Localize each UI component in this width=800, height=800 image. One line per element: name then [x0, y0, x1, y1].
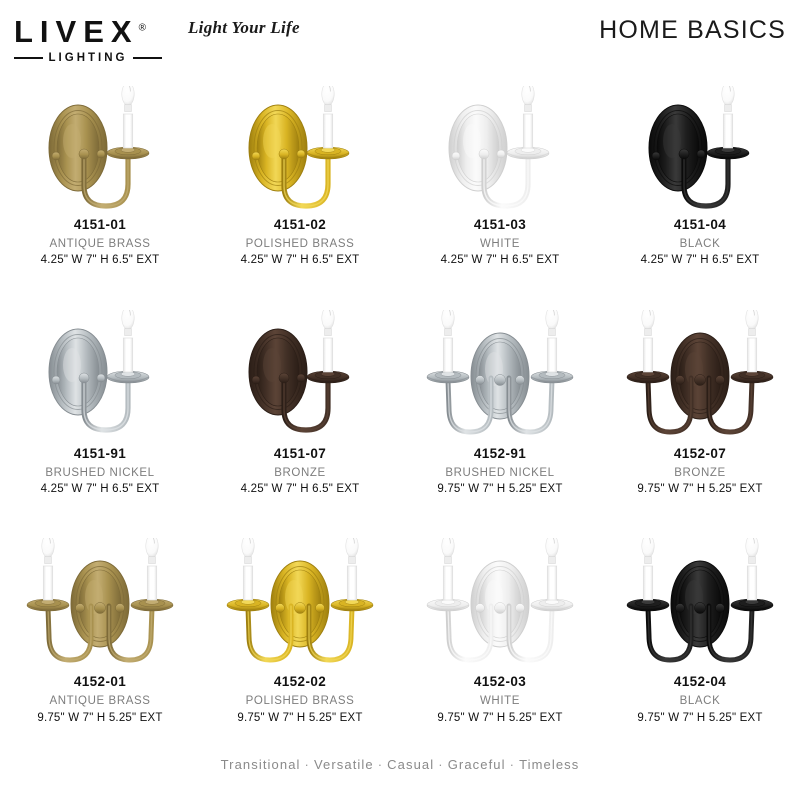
backplate [49, 105, 107, 191]
product-image [600, 86, 800, 211]
product-dimensions: 9.75" W 7" H 5.25" EXT [400, 711, 600, 725]
product-card[interactable]: 4151-03WHITE4.25" W 7" H 6.5" EXT [400, 86, 600, 268]
sconce-illustration [600, 86, 800, 211]
candle-bulb [346, 538, 358, 600]
product-sku: 4152-07 [600, 446, 800, 463]
candle-bulb [546, 310, 558, 372]
registered-trademark-icon: ® [139, 23, 146, 34]
product-image [200, 86, 400, 211]
bobeche [731, 599, 773, 611]
bobeche [427, 599, 469, 611]
footer-keywords: Transitional·Versatile·Casual·Graceful·T… [0, 757, 800, 772]
candle-bulb [442, 538, 454, 600]
sconce-illustration [600, 538, 800, 668]
product-finish: ANTIQUE BRASS [0, 694, 200, 708]
product-card[interactable]: 4152-91BRUSHED NICKEL9.75" W 7" H 5.25" … [400, 310, 600, 497]
product-meta: 4151-01ANTIQUE BRASS4.25" W 7" H 6.5" EX… [0, 217, 200, 268]
product-sku: 4151-04 [600, 217, 800, 234]
product-dimensions: 4.25" W 7" H 6.5" EXT [600, 253, 800, 267]
page-header: LIVEX® LIGHTING Light Your Life HOME BAS… [0, 0, 800, 78]
footer-separator: · [506, 757, 519, 772]
sconce-illustration [200, 86, 400, 211]
sconce-illustration [400, 310, 600, 440]
product-meta: 4152-07BRONZE9.75" W 7" H 5.25" EXT [600, 446, 800, 497]
product-meta: 4151-91BRUSHED NICKEL4.25" W 7" H 6.5" E… [0, 446, 200, 497]
backplate [249, 105, 307, 191]
product-sku: 4151-91 [0, 446, 200, 463]
bobeche [731, 371, 773, 383]
livex-logo: LIVEX® LIGHTING [14, 16, 174, 64]
product-row: 4152-01ANTIQUE BRASS9.75" W 7" H 5.25" E… [0, 496, 800, 725]
product-dimensions: 9.75" W 7" H 5.25" EXT [600, 711, 800, 725]
product-finish: BLACK [600, 237, 800, 251]
candle-bulb [746, 538, 758, 600]
candle-bulb [546, 538, 558, 600]
product-card[interactable]: 4151-07BRONZE4.25" W 7" H 6.5" EXT [200, 310, 400, 497]
product-meta: 4151-07BRONZE4.25" W 7" H 6.5" EXT [200, 446, 400, 497]
product-dimensions: 9.75" W 7" H 5.25" EXT [0, 711, 200, 725]
product-image [0, 310, 200, 440]
backplate [49, 329, 107, 415]
product-image [600, 310, 800, 440]
product-row: 4151-91BRUSHED NICKEL4.25" W 7" H 6.5" E… [0, 268, 800, 497]
product-image [0, 86, 200, 211]
product-card[interactable]: 4152-03WHITE9.75" W 7" H 5.25" EXT [400, 538, 600, 725]
product-image [600, 538, 800, 668]
bobeche [331, 599, 373, 611]
product-grid: 4151-01ANTIQUE BRASS4.25" W 7" H 6.5" EX… [0, 78, 800, 725]
footer-separator: · [434, 757, 447, 772]
backplate [649, 105, 707, 191]
footer-keyword: Casual [387, 757, 434, 772]
product-meta: 4151-04BLACK4.25" W 7" H 6.5" EXT [600, 217, 800, 268]
product-card[interactable]: 4152-04BLACK9.75" W 7" H 5.25" EXT [600, 538, 800, 725]
bobeche [427, 371, 469, 383]
logo-wordmark-text: LIVEX [14, 14, 139, 49]
sconce-illustration [200, 538, 400, 668]
product-dimensions: 9.75" W 7" H 5.25" EXT [400, 482, 600, 496]
bobeche [107, 147, 149, 159]
sconce-illustration [400, 538, 600, 668]
product-image [0, 538, 200, 668]
product-meta: 4152-04BLACK9.75" W 7" H 5.25" EXT [600, 674, 800, 725]
logo-subtitle: LIGHTING [49, 52, 128, 64]
bobeche [707, 147, 749, 159]
product-meta: 4152-03WHITE9.75" W 7" H 5.25" EXT [400, 674, 600, 725]
backplate [249, 329, 307, 415]
product-finish: BRONZE [600, 466, 800, 480]
candle-bulb [322, 86, 334, 148]
footer-keyword: Transitional [221, 757, 301, 772]
product-meta: 4152-91BRUSHED NICKEL9.75" W 7" H 5.25" … [400, 446, 600, 497]
product-dimensions: 4.25" W 7" H 6.5" EXT [0, 253, 200, 267]
bobeche [307, 147, 349, 159]
product-sku: 4152-01 [0, 674, 200, 691]
footer-keyword: Versatile [314, 757, 374, 772]
product-meta: 4152-02POLISHED BRASS9.75" W 7" H 5.25" … [200, 674, 400, 725]
product-card[interactable]: 4152-02POLISHED BRASS9.75" W 7" H 5.25" … [200, 538, 400, 725]
bobeche [627, 371, 669, 383]
candle-bulb [322, 310, 334, 372]
sconce-illustration [200, 310, 400, 435]
footer-keyword: Timeless [519, 757, 579, 772]
candle-bulb [746, 310, 758, 372]
product-card[interactable]: 4151-91BRUSHED NICKEL4.25" W 7" H 6.5" E… [0, 310, 200, 497]
product-dimensions: 9.75" W 7" H 5.25" EXT [600, 482, 800, 496]
product-card[interactable]: 4152-07BRONZE9.75" W 7" H 5.25" EXT [600, 310, 800, 497]
product-image [400, 538, 600, 668]
product-sku: 4152-02 [200, 674, 400, 691]
bobeche [131, 599, 173, 611]
product-finish: BRONZE [200, 466, 400, 480]
sconce-illustration [400, 86, 600, 211]
candle-bulb [122, 310, 134, 372]
candle-bulb [442, 310, 454, 372]
product-sku: 4152-03 [400, 674, 600, 691]
candle-bulb [146, 538, 158, 600]
product-dimensions: 4.25" W 7" H 6.5" EXT [400, 253, 600, 267]
product-sku: 4152-04 [600, 674, 800, 691]
product-sku: 4151-07 [200, 446, 400, 463]
product-card[interactable]: 4151-04BLACK4.25" W 7" H 6.5" EXT [600, 86, 800, 268]
product-meta: 4151-03WHITE4.25" W 7" H 6.5" EXT [400, 217, 600, 268]
product-finish: BRUSHED NICKEL [0, 466, 200, 480]
bobeche [627, 599, 669, 611]
bobeche [531, 599, 573, 611]
sconce-illustration [0, 310, 200, 435]
product-image [400, 310, 600, 440]
tagline: Light Your Life [188, 18, 300, 38]
logo-rule-right [133, 57, 162, 59]
product-finish: BLACK [600, 694, 800, 708]
logo-subtitle-row: LIGHTING [14, 52, 162, 64]
candle-bulb [122, 86, 134, 148]
product-finish: WHITE [400, 694, 600, 708]
product-sku: 4151-02 [200, 217, 400, 234]
bobeche [107, 371, 149, 383]
product-sku: 4151-01 [0, 217, 200, 234]
collection-title: HOME BASICS [599, 16, 786, 45]
product-card[interactable]: 4151-02POLISHED BRASS4.25" W 7" H 6.5" E… [200, 86, 400, 268]
bobeche [507, 147, 549, 159]
candle-bulb [642, 538, 654, 600]
product-image [200, 310, 400, 440]
bobeche [307, 371, 349, 383]
product-meta: 4151-02POLISHED BRASS4.25" W 7" H 6.5" E… [200, 217, 400, 268]
sconce-illustration [0, 538, 200, 668]
product-dimensions: 9.75" W 7" H 5.25" EXT [200, 711, 400, 725]
product-image [200, 538, 400, 668]
product-card[interactable]: 4151-01ANTIQUE BRASS4.25" W 7" H 6.5" EX… [0, 86, 200, 268]
product-card[interactable]: 4152-01ANTIQUE BRASS9.75" W 7" H 5.25" E… [0, 538, 200, 725]
product-dimensions: 4.25" W 7" H 6.5" EXT [200, 482, 400, 496]
product-finish: WHITE [400, 237, 600, 251]
candle-bulb [522, 86, 534, 148]
logo-wordmark: LIVEX® [14, 16, 146, 47]
product-sku: 4152-91 [400, 446, 600, 463]
product-finish: POLISHED BRASS [200, 237, 400, 251]
product-finish: ANTIQUE BRASS [0, 237, 200, 251]
candle-bulb [722, 86, 734, 148]
product-meta: 4152-01ANTIQUE BRASS9.75" W 7" H 5.25" E… [0, 674, 200, 725]
product-finish: BRUSHED NICKEL [400, 466, 600, 480]
sconce-illustration [0, 86, 200, 211]
candle-bulb [242, 538, 254, 600]
product-dimensions: 4.25" W 7" H 6.5" EXT [0, 482, 200, 496]
candle-bulb [42, 538, 54, 600]
bobeche [27, 599, 69, 611]
candle-bulb [642, 310, 654, 372]
footer-separator: · [301, 757, 314, 772]
logo-rule-left [14, 57, 43, 59]
bobeche [531, 371, 573, 383]
footer-keyword: Graceful [448, 757, 506, 772]
product-image [400, 86, 600, 211]
backplate [449, 105, 507, 191]
product-sku: 4151-03 [400, 217, 600, 234]
product-finish: POLISHED BRASS [200, 694, 400, 708]
product-dimensions: 4.25" W 7" H 6.5" EXT [200, 253, 400, 267]
footer-separator: · [374, 757, 387, 772]
product-row: 4151-01ANTIQUE BRASS4.25" W 7" H 6.5" EX… [0, 78, 800, 268]
bobeche [227, 599, 269, 611]
sconce-illustration [600, 310, 800, 440]
